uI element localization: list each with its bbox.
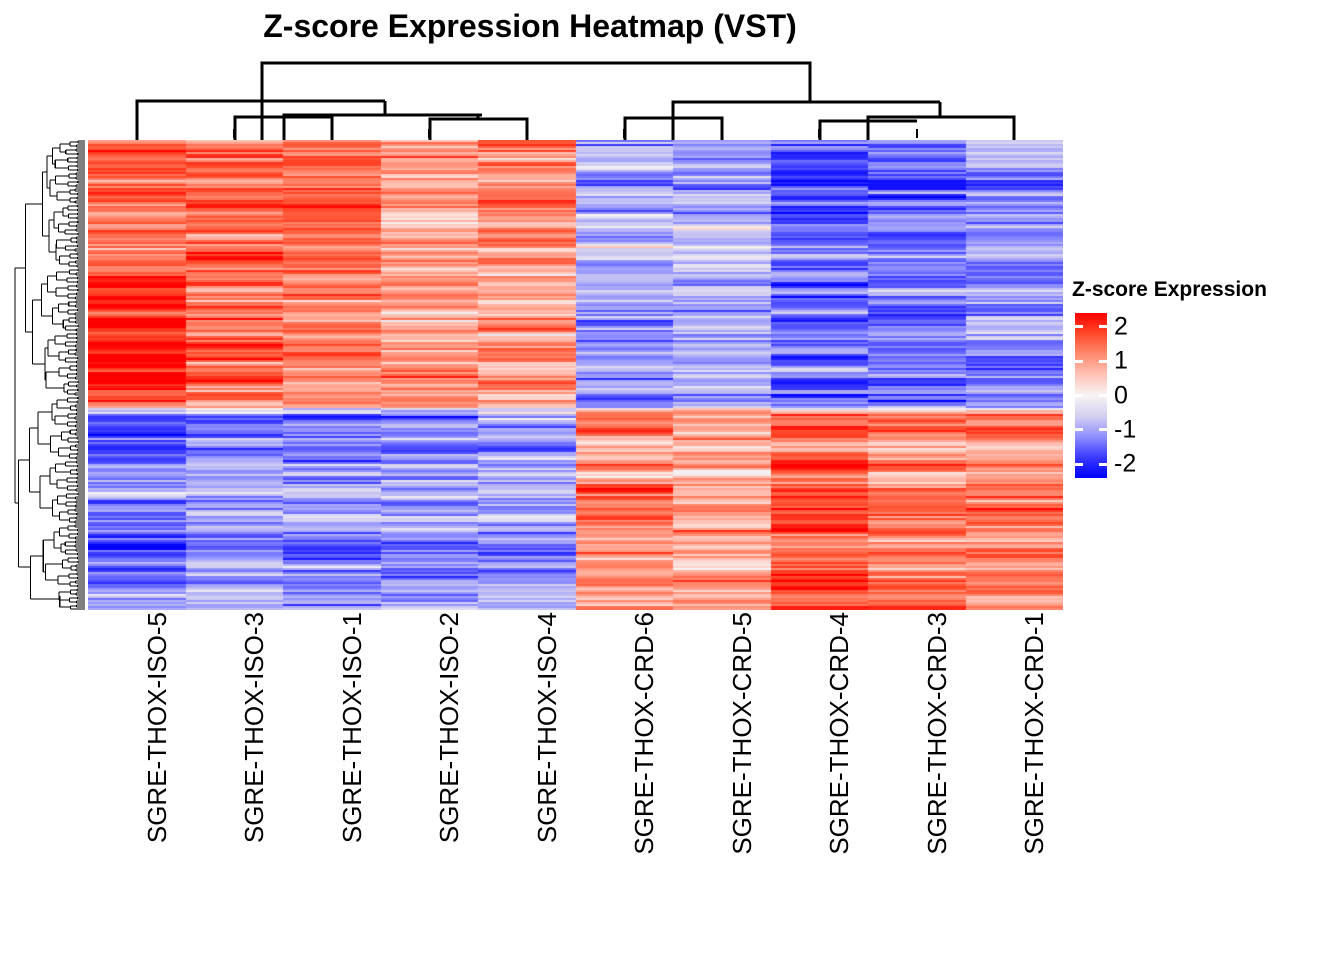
column-tick xyxy=(136,129,138,138)
legend-tick xyxy=(1075,360,1083,363)
column-label: SGRE-THOX-CRD-6 xyxy=(634,612,654,912)
legend-tick xyxy=(1099,428,1107,431)
column-tick xyxy=(623,129,625,138)
column-tick xyxy=(428,129,430,138)
heatmap-body xyxy=(88,140,1063,610)
column-label: SGRE-THOX-CRD-4 xyxy=(829,612,849,912)
column-label: SGRE-THOX-ISO-5 xyxy=(147,612,167,912)
column-tick xyxy=(721,129,723,138)
column-tick-marks xyxy=(88,129,1063,138)
color-legend: Z-score Expression 210-1-2 xyxy=(1072,278,1332,493)
legend-tick xyxy=(1075,463,1083,466)
legend-tick-label: 1 xyxy=(1114,347,1128,376)
column-label: SGRE-THOX-ISO-4 xyxy=(537,612,557,912)
column-tick xyxy=(916,129,918,138)
legend-tick-label: -1 xyxy=(1114,415,1136,444)
legend-tick-label: 0 xyxy=(1114,381,1128,410)
column-dendrogram xyxy=(0,55,1070,140)
column-tick xyxy=(233,129,235,138)
legend-tick xyxy=(1075,325,1083,328)
column-dendrogram-svg xyxy=(0,55,1070,140)
column-label: SGRE-THOX-ISO-1 xyxy=(342,612,362,912)
column-tick xyxy=(331,129,333,138)
row-dendrogram xyxy=(14,140,86,610)
heatmap-figure: Z-score Expression Heatmap (VST) xyxy=(0,0,1344,960)
legend-tick xyxy=(1099,325,1107,328)
column-label: SGRE-THOX-ISO-3 xyxy=(244,612,264,912)
column-tick xyxy=(526,129,528,138)
legend-tick xyxy=(1075,428,1083,431)
legend-tick-label: 2 xyxy=(1114,312,1128,341)
legend-tick xyxy=(1099,394,1107,397)
column-label: SGRE-THOX-CRD-1 xyxy=(1024,612,1044,912)
column-labels: SGRE-THOX-ISO-5SGRE-THOX-ISO-3SGRE-THOX-… xyxy=(88,612,1063,942)
row-dendrogram-svg xyxy=(14,140,86,610)
column-tick xyxy=(1013,129,1015,138)
legend-tick xyxy=(1099,463,1107,466)
column-label: SGRE-THOX-ISO-2 xyxy=(439,612,459,912)
legend-tick-marks xyxy=(1075,313,1107,478)
column-label: SGRE-THOX-CRD-3 xyxy=(927,612,947,912)
column-tick xyxy=(818,129,820,138)
row-dendrogram-paths xyxy=(15,141,85,609)
legend-tick xyxy=(1099,360,1107,363)
column-label: SGRE-THOX-CRD-5 xyxy=(732,612,752,912)
legend-title: Z-score Expression xyxy=(1072,278,1267,302)
legend-tick xyxy=(1075,394,1083,397)
page-title: Z-score Expression Heatmap (VST) xyxy=(0,8,1060,45)
legend-tick-label: -2 xyxy=(1114,450,1136,479)
heatmap-canvas xyxy=(88,140,1063,610)
